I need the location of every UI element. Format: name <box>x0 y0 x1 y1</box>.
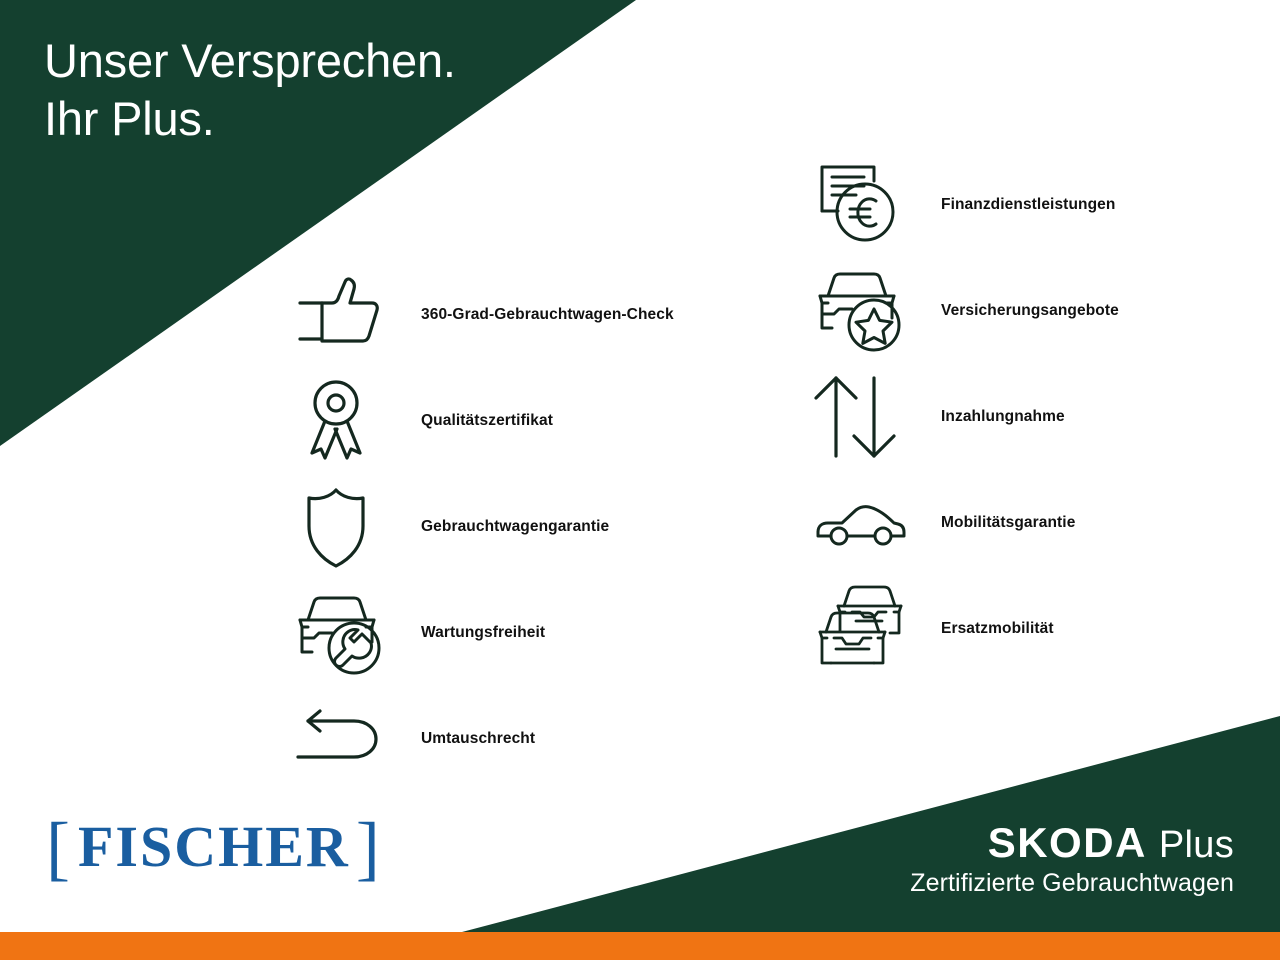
return-arrow-icon <box>292 693 388 785</box>
quality-rosette-icon <box>292 375 388 467</box>
bottom-orange-bar <box>0 932 1280 960</box>
brand-lockup: SKODA Plus Zertifizierte Gebrauchtwagen <box>910 822 1234 898</box>
up-down-arrows-icon <box>812 371 908 463</box>
brand-name: SKODA <box>988 822 1147 864</box>
feature-item: Gebrauchtwagengarantie <box>292 474 762 580</box>
logo-bracket-left: [ <box>46 812 72 884</box>
brand-suffix: Plus <box>1159 826 1234 864</box>
car-star-icon <box>812 265 908 357</box>
headline-line-2: Ihr Plus. <box>44 90 456 148</box>
shield-icon <box>292 481 388 573</box>
promo-banner: Unser Versprechen. Ihr Plus. 360-Grad-Ge… <box>0 0 1280 960</box>
document-euro-icon <box>812 159 908 251</box>
brand-subtitle: Zertifizierte Gebrauchtwagen <box>910 870 1234 898</box>
thumbs-up-icon <box>292 269 388 361</box>
feature-label: Umtauschrecht <box>388 730 535 748</box>
feature-item: Versicherungsangebote <box>812 258 1242 364</box>
feature-label: Qualitätszertifikat <box>388 412 553 430</box>
feature-item: Qualitätszertifikat <box>292 368 762 474</box>
logo-wordmark: FISCHER <box>72 818 356 876</box>
feature-label: Finanzdienstleistungen <box>908 196 1115 214</box>
feature-label: Mobilitätsgarantie <box>908 514 1075 532</box>
feature-item: Wartungsfreiheit <box>292 580 762 686</box>
logo-bracket-right: ] <box>356 812 382 884</box>
feature-item: Ersatzmobilität <box>812 576 1242 682</box>
feature-item: Mobilitätsgarantie <box>812 470 1242 576</box>
side-car-icon <box>812 477 908 569</box>
feature-item: Finanzdienstleistungen <box>812 152 1242 258</box>
feature-label: Inzahlungnahme <box>908 408 1065 426</box>
dealer-logo: [ FISCHER ] <box>46 806 382 878</box>
car-wrench-icon <box>292 587 388 679</box>
feature-item: 360-Grad-Gebrauchtwagen-Check <box>292 262 762 368</box>
feature-label: 360-Grad-Gebrauchtwagen-Check <box>388 306 674 324</box>
feature-label: Versicherungsangebote <box>908 302 1119 320</box>
feature-item: Inzahlungnahme <box>812 364 1242 470</box>
headline-line-1: Unser Versprechen. <box>44 32 456 90</box>
feature-label: Wartungsfreiheit <box>388 624 545 642</box>
feature-label: Gebrauchtwagengarantie <box>388 518 609 536</box>
feature-list-left: 360-Grad-Gebrauchtwagen-Check Qualitätsz… <box>292 262 762 792</box>
feature-list-right: Finanzdienstleistungen Versicherungsange… <box>812 152 1242 682</box>
two-cars-icon <box>812 583 908 675</box>
page-title: Unser Versprechen. Ihr Plus. <box>44 32 456 148</box>
brand-wordmark-row: SKODA Plus <box>910 822 1234 864</box>
feature-item: Umtauschrecht <box>292 686 762 792</box>
feature-label: Ersatzmobilität <box>908 620 1054 638</box>
